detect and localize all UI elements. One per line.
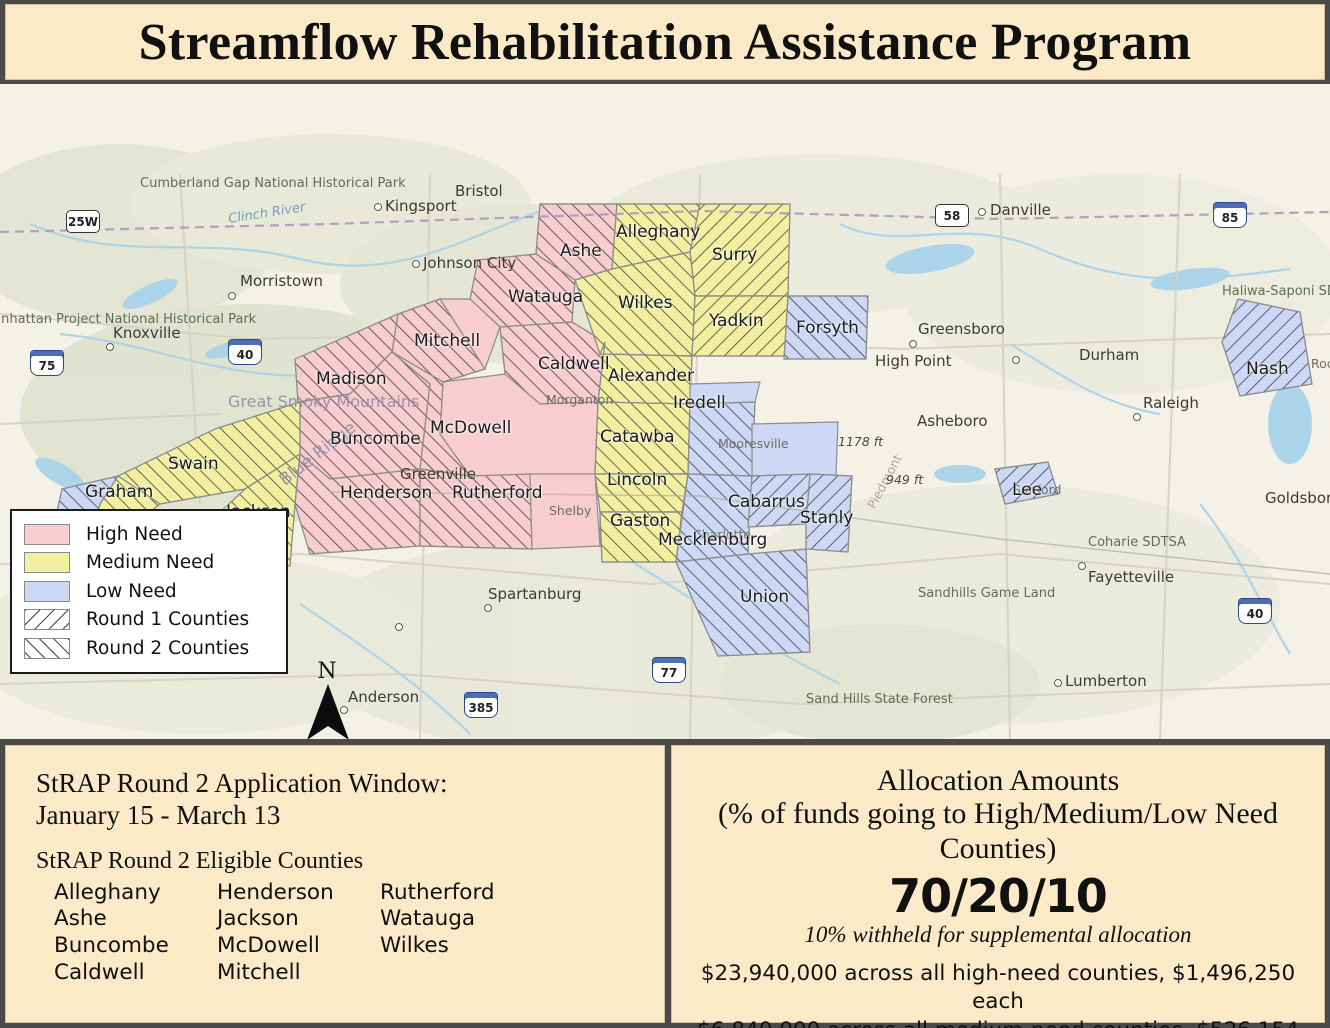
county-label-mcdowell: McDowell <box>430 418 511 438</box>
county-label-watauga: Watauga <box>508 287 583 307</box>
highway-shield-i85[interactable]: 85 <box>1213 202 1247 228</box>
map-canvas[interactable]: Ashe Alleghany Surry Watauga Wilkes Yadk… <box>0 84 1330 739</box>
list-item: Buncombe <box>54 933 217 960</box>
city-dot-knoxville <box>106 343 114 351</box>
legend-item-low-need: Low Need <box>24 577 276 606</box>
place-label-danville: Danville <box>990 201 1051 219</box>
highway-shield-i77[interactable]: 77 <box>652 657 686 683</box>
city-dot-fayetteville <box>1078 562 1086 570</box>
allocation-percentages: 70/20/10 <box>682 872 1314 922</box>
list-item: Henderson <box>217 880 380 907</box>
highway-shield-i40-east[interactable]: 40 <box>1238 598 1272 624</box>
county-label-catawba: Catawba <box>600 427 674 447</box>
city-dot-spartanburg <box>484 604 492 612</box>
county-label-mecklenburg: Mecklenburg <box>658 530 767 550</box>
county-label-graham: Graham <box>85 482 153 502</box>
application-window-dates: January 15 - March 13 <box>36 800 664 832</box>
list-item: Watauga <box>380 906 543 933</box>
place-label-anderson: Anderson <box>348 688 419 706</box>
legend-item-medium-need: Medium Need <box>24 549 276 578</box>
place-label-high-point: High Point <box>875 352 952 370</box>
park-label-manhattan-project: Manhattan Project National Historical Pa… <box>0 312 122 327</box>
park-label-haliwa-saponi: Haliwa-Saponi SDTSA <box>1222 284 1322 299</box>
county-label-cabarrus: Cabarrus <box>728 492 805 512</box>
highway-shield-25w[interactable]: 25W <box>66 210 100 233</box>
legend-label-low-need: Low Need <box>86 581 177 602</box>
highway-shield-i385[interactable]: 385 <box>464 692 498 718</box>
list-item: Ashe <box>54 906 217 933</box>
county-label-henderson: Henderson <box>340 483 432 503</box>
allocation-panel: Allocation Amounts (% of funds going to … <box>671 745 1325 1023</box>
legend-item-round-1: Round 1 Counties <box>24 606 276 635</box>
county-label-alexander: Alexander <box>608 366 694 386</box>
city-dot-danville <box>978 208 986 216</box>
list-item: McDowell <box>217 933 380 960</box>
county-label-buncombe: Buncombe <box>330 429 421 449</box>
county-label-iredell: Iredell <box>673 393 726 413</box>
place-label-morganton: Morganton <box>546 392 613 407</box>
allocation-title: Allocation Amounts <box>682 764 1314 797</box>
highway-shield-i75[interactable]: 75 <box>30 350 64 376</box>
county-label-union: Union <box>740 587 789 607</box>
legend-swatch-medium-need <box>24 552 70 573</box>
allocation-line-high: $23,940,000 across all high-need countie… <box>682 960 1314 1017</box>
county-label-madison: Madison <box>316 369 387 389</box>
county-label-mitchell: Mitchell <box>414 331 480 351</box>
place-label-kingsport: Kingsport <box>385 197 457 215</box>
bottom-panels: StRAP Round 2 Application Window: Januar… <box>0 739 1330 1028</box>
region-label-great-smoky: Great Smoky Mountains <box>228 392 338 411</box>
place-label-shelby: Shelby <box>549 503 591 518</box>
legend-label-round-2: Round 2 Counties <box>86 638 249 659</box>
north-arrow-icon <box>305 684 351 739</box>
highway-shield-i40[interactable]: 40 <box>228 339 262 365</box>
legend-item-high-need: High Need <box>24 520 276 549</box>
place-label-fayetteville: Fayetteville <box>1088 568 1174 586</box>
list-item: Mitchell <box>217 960 380 987</box>
legend-swatch-high-need <box>24 524 70 545</box>
place-label-asheboro: Asheboro <box>917 412 988 430</box>
legend-swatch-low-need <box>24 581 70 602</box>
county-label-stanly: Stanly <box>800 508 853 528</box>
legend-label-medium-need: Medium Need <box>86 552 214 573</box>
place-label-durham: Durham <box>1079 346 1139 364</box>
list-item: Caldwell <box>54 960 217 987</box>
place-label-goldsboro: Goldsboro <box>1265 489 1330 507</box>
list-item: Alleghany <box>54 880 217 907</box>
eligible-counties-column-2: Henderson Jackson McDowell Mitchell <box>217 880 380 987</box>
highway-shield-58[interactable]: 58 <box>935 204 969 227</box>
allocation-line-medium: $6,840,000 across all medium-need counti… <box>682 1017 1314 1028</box>
city-dot-greensboro <box>909 340 917 348</box>
city-dot-morristown <box>228 292 236 300</box>
county-label-caldwell: Caldwell <box>538 354 610 374</box>
city-dot-kingsport <box>374 203 382 211</box>
legend-item-round-2: Round 2 Counties <box>24 634 276 663</box>
county-label-alleghany: Alleghany <box>616 222 700 242</box>
north-arrow: N <box>305 659 355 739</box>
city-dot-durham <box>1012 356 1020 364</box>
place-label-spartanburg: Spartanburg <box>488 585 581 603</box>
park-label-sand-hills-state-forest: Sand Hills State Forest <box>806 692 906 707</box>
county-label-forsyth: Forsyth <box>796 318 859 338</box>
legend-label-round-1: Round 1 Counties <box>86 609 249 630</box>
legend-label-high-need: High Need <box>86 524 183 545</box>
county-label-gaston: Gaston <box>610 511 670 531</box>
county-label-nash: Nash <box>1246 359 1289 379</box>
city-dot-greenville <box>395 623 403 631</box>
place-label-bristol: Bristol <box>455 182 503 200</box>
place-label-rocky: Rocky <box>1311 356 1330 371</box>
park-label-coharie: Coharie SDTSA <box>1088 535 1186 550</box>
page-title: Streamflow Rehabilitation Assistance Pro… <box>139 13 1192 72</box>
city-dot-lumberton <box>1054 679 1062 687</box>
place-label-greensboro: Greensboro <box>918 320 1005 338</box>
list-item: Rutherford <box>380 880 543 907</box>
county-label-yadkin: Yadkin <box>709 311 764 331</box>
place-label-greenville-sc: Greenville <box>400 465 476 483</box>
place-label-mooresville: Mooresville <box>718 436 789 451</box>
eligible-counties-column-1: Alleghany Ashe Buncombe Caldwell <box>54 880 217 987</box>
application-window-panel: StRAP Round 2 Application Window: Januar… <box>5 745 665 1023</box>
list-item: Jackson <box>217 906 380 933</box>
list-item: Wilkes <box>380 933 543 960</box>
elevation-label-949: 949 ft <box>886 472 923 487</box>
allocation-subtitle: (% of funds going to High/Medium/Low Nee… <box>682 797 1314 866</box>
title-banner: Streamflow Rehabilitation Assistance Pro… <box>5 4 1325 80</box>
county-label-lee: Lee <box>1012 480 1042 500</box>
infographic-root: Streamflow Rehabilitation Assistance Pro… <box>0 0 1330 1028</box>
application-window-heading: StRAP Round 2 Application Window: <box>36 768 664 800</box>
allocation-note: 10% withheld for supplemental allocation <box>682 922 1314 948</box>
eligible-counties-list: Alleghany Ashe Buncombe Caldwell Henders… <box>54 880 664 987</box>
county-label-surry: Surry <box>712 245 757 265</box>
city-dot-raleigh <box>1133 413 1141 421</box>
county-label-rutherford: Rutherford <box>452 483 543 503</box>
county-label-lincoln: Lincoln <box>607 470 667 490</box>
north-arrow-label: N <box>299 659 355 684</box>
eligible-counties-heading: StRAP Round 2 Eligible Counties <box>36 848 664 875</box>
city-dot-johnson-city <box>412 260 420 268</box>
county-label-ashe: Ashe <box>560 241 602 261</box>
eligible-counties-column-3: Rutherford Watauga Wilkes <box>380 880 543 987</box>
place-label-johnson-city: Johnson City <box>423 254 516 272</box>
place-label-raleigh: Raleigh <box>1143 394 1199 412</box>
county-label-wilkes: Wilkes <box>618 293 672 313</box>
map-legend: High Need Medium Need Low Need Round 1 C… <box>10 509 288 674</box>
park-label-cumberland-gap: Cumberland Gap National Historical Park <box>140 176 310 191</box>
place-label-lumberton: Lumberton <box>1065 672 1147 690</box>
elevation-label-1178: 1178 ft <box>838 434 883 449</box>
place-label-morristown: Morristown <box>240 272 323 290</box>
legend-swatch-round-1 <box>24 609 70 630</box>
legend-swatch-round-2 <box>24 638 70 659</box>
county-label-swain: Swain <box>168 454 219 474</box>
park-label-sandhills-game-land: Sandhills Game Land <box>918 586 1008 601</box>
